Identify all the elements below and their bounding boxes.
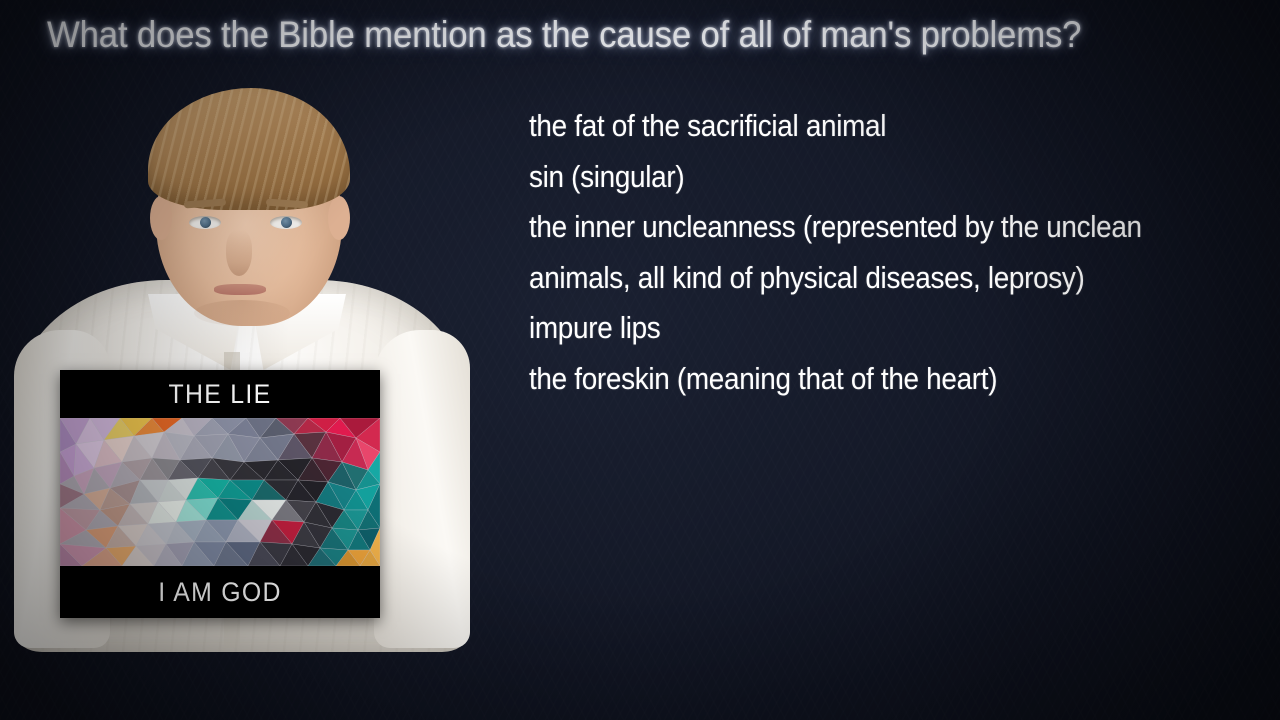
presenter-nose	[226, 230, 252, 276]
presenter-sleeve-right	[374, 330, 470, 648]
presenter-chin-shadow	[194, 300, 290, 326]
answer-list: the fat of the sacrificial animal sin (s…	[529, 101, 1259, 404]
page-title: What does the Bible mention as the cause…	[47, 12, 1081, 58]
answer-line: impure lips	[529, 303, 1186, 354]
answer-line: the foreskin (meaning that of the heart)	[529, 354, 1186, 405]
book-subtitle-band: I AM GOD	[73, 566, 367, 618]
book-cover: THE LIE	[60, 370, 380, 618]
answer-line: sin (singular)	[529, 152, 1186, 203]
presenter-eye-right	[270, 216, 302, 229]
presenter-eye-left	[189, 216, 221, 229]
presenter-ear-right	[328, 196, 350, 240]
book-title-band: THE LIE	[73, 370, 367, 418]
presenter-ear-left	[150, 196, 172, 240]
presenter-mouth	[214, 284, 266, 295]
answer-line: the inner uncleanness (represented by th…	[529, 202, 1186, 253]
presentation-slide: What does the Bible mention as the cause…	[0, 0, 1280, 720]
answer-line: the fat of the sacrificial animal	[529, 101, 1186, 152]
answer-line: animals, all kind of physical diseases, …	[529, 253, 1186, 304]
presenter-hair	[148, 88, 350, 210]
low-poly-eye-artwork	[60, 418, 380, 566]
